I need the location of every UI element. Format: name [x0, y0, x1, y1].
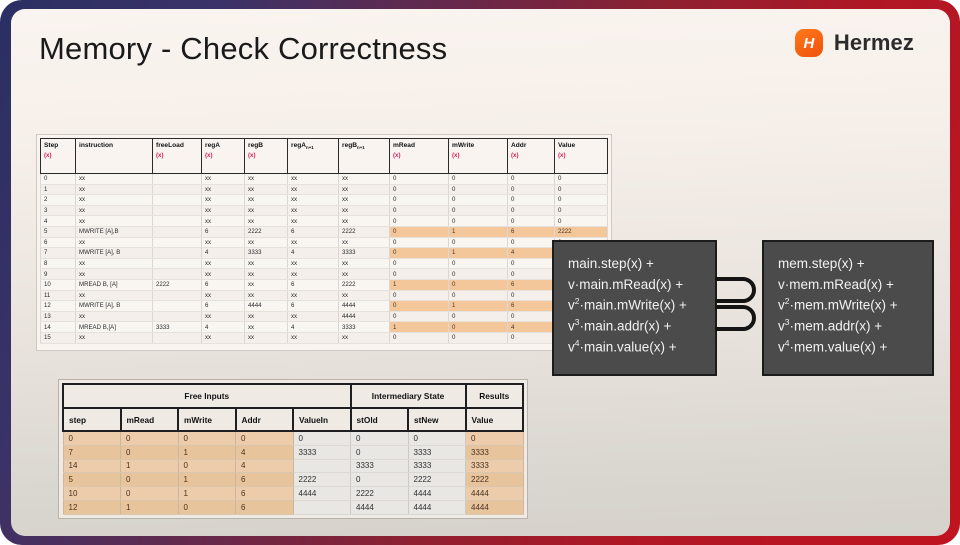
summary-cell-step: 0 — [63, 431, 121, 445]
trace-cell-step: 12 — [41, 301, 76, 312]
summary-cell-stNew: 3333 — [408, 459, 466, 473]
trace-cell-regBn: xx — [339, 332, 390, 343]
trace-cell-step: 14 — [41, 322, 76, 333]
trace-cell-regAn: xx — [288, 332, 339, 343]
trace-cell-step: 6 — [41, 237, 76, 248]
formula-line: v3·main.addr(x) + — [568, 316, 701, 337]
formula-line: v4·mem.value(x) + — [778, 337, 918, 358]
trace-cell-mWrite: 0 — [449, 332, 508, 343]
trace-cell-freeLoad — [153, 258, 202, 269]
summary-header-mread: mRead — [121, 408, 179, 431]
trace-cell-freeLoad: 2222 — [153, 279, 202, 290]
trace-cell-value: 0 — [555, 195, 608, 206]
trace-cell-regBn: xx — [339, 216, 390, 227]
trace-cell-mWrite: 0 — [449, 311, 508, 322]
trace-cell-regB: xx — [245, 195, 288, 206]
memory-summary-table-container: Free InputsIntermediary StateResults ste… — [58, 379, 528, 519]
trace-cell-mRead: 0 — [390, 301, 449, 312]
trace-cell-regBn: 3333 — [339, 322, 390, 333]
trace-cell-regAn: xx — [288, 258, 339, 269]
trace-cell-regBn: 4444 — [339, 311, 390, 322]
trace-cell-mRead: 0 — [390, 248, 449, 259]
table-row: 14104333333333333 — [63, 459, 523, 473]
summary-cell-step: 12 — [63, 500, 121, 514]
trace-cell-instruction: xx — [76, 237, 153, 248]
trace-table-head: Step(x)instructionfreeLoad(x)regA(x)regB… — [41, 139, 608, 174]
trace-cell-mRead: 0 — [390, 226, 449, 237]
trace-cell-regA: xx — [202, 311, 245, 322]
table-row: 3xxxxxxxxxx0000 — [41, 205, 608, 216]
summary-cell-addr: 0 — [236, 431, 294, 445]
trace-cell-regBn: xx — [339, 195, 390, 206]
summary-cell-step: 14 — [63, 459, 121, 473]
table-row: 00000000 — [63, 431, 523, 445]
table-row: 50162222022222222 — [63, 473, 523, 487]
summary-cell-mRead: 0 — [121, 487, 179, 501]
summary-cell-valueIn: 2222 — [293, 473, 351, 487]
trace-cell-instruction: xx — [76, 258, 153, 269]
trace-cell-mWrite: 1 — [449, 226, 508, 237]
trace-cell-step: 13 — [41, 311, 76, 322]
trace-cell-value: 0 — [555, 184, 608, 195]
trace-header-mread: mRead(x) — [390, 139, 449, 174]
table-row: 1xxxxxxxxxx0000 — [41, 184, 608, 195]
formula-line: v3·mem.addr(x) + — [778, 316, 918, 337]
trace-cell-mRead: 0 — [390, 195, 449, 206]
table-row: 9xxxxxxxxxx0000 — [41, 269, 608, 280]
trace-cell-addr: 0 — [508, 184, 555, 195]
trace-cell-step: 3 — [41, 205, 76, 216]
trace-cell-regB: xx — [245, 322, 288, 333]
summary-cell-mWrite: 1 — [178, 487, 236, 501]
trace-cell-regBn: 4444 — [339, 301, 390, 312]
trace-cell-freeLoad — [153, 184, 202, 195]
trace-cell-freeLoad: 3333 — [153, 322, 202, 333]
trace-cell-freeLoad — [153, 226, 202, 237]
summary-cell-value: 4444 — [466, 500, 524, 514]
trace-cell-instruction: MREAD B, [A] — [76, 279, 153, 290]
trace-cell-step: 15 — [41, 332, 76, 343]
table-row: 2xxxxxxxxxx0000 — [41, 195, 608, 206]
summary-cell-stNew: 3333 — [408, 445, 466, 459]
summary-cell-mRead: 0 — [121, 445, 179, 459]
trace-cell-addr: 6 — [508, 226, 555, 237]
trace-cell-regAn: 4 — [288, 248, 339, 259]
trace-cell-step: 11 — [41, 290, 76, 301]
trace-cell-regBn: xx — [339, 258, 390, 269]
trace-header-regb: regBn+1 — [339, 139, 390, 174]
trace-cell-instruction: MWRITE [A],B — [76, 226, 153, 237]
trace-cell-step: 5 — [41, 226, 76, 237]
table-row: 12106444444444444 — [63, 500, 523, 514]
summary-cell-mRead: 1 — [121, 500, 179, 514]
slide-body: Memory - Check Correctness H Hermez Step… — [11, 9, 950, 536]
trace-cell-step: 8 — [41, 258, 76, 269]
summary-cell-stOld: 2222 — [351, 487, 409, 501]
trace-cell-regA: xx — [202, 258, 245, 269]
summary-table-body: 0000000070143333033333333141043333333333… — [63, 431, 523, 514]
trace-cell-instruction: xx — [76, 290, 153, 301]
trace-cell-freeLoad — [153, 332, 202, 343]
trace-cell-regA: xx — [202, 205, 245, 216]
trace-cell-freeLoad — [153, 290, 202, 301]
trace-cell-addr: 0 — [508, 332, 555, 343]
summary-cell-step: 7 — [63, 445, 121, 459]
summary-cell-value: 3333 — [466, 445, 524, 459]
trace-cell-mRead: 1 — [390, 322, 449, 333]
formula-line: v2·main.mWrite(x) + — [568, 295, 701, 316]
trace-cell-mRead: 0 — [390, 258, 449, 269]
summary-cell-mWrite: 0 — [178, 459, 236, 473]
trace-cell-regA: 6 — [202, 301, 245, 312]
summary-cell-value: 4444 — [466, 487, 524, 501]
summary-cell-stOld: 0 — [351, 473, 409, 487]
trace-cell-regBn: 2222 — [339, 226, 390, 237]
trace-cell-regB: xx — [245, 174, 288, 185]
trace-cell-addr: 0 — [508, 195, 555, 206]
trace-cell-regA: xx — [202, 195, 245, 206]
table-row: 6xxxxxxxxxx0000 — [41, 237, 608, 248]
trace-cell-regBn: xx — [339, 184, 390, 195]
summary-cell-valueIn: 3333 — [293, 445, 351, 459]
summary-cell-mRead: 0 — [121, 473, 179, 487]
trace-header-freeload: freeLoad(x) — [153, 139, 202, 174]
summary-cell-stNew: 2222 — [408, 473, 466, 487]
trace-header-regb: regB(x) — [245, 139, 288, 174]
trace-cell-regAn: xx — [288, 184, 339, 195]
trace-cell-regB: xx — [245, 205, 288, 216]
trace-cell-regB: xx — [245, 311, 288, 322]
summary-cell-stNew: 4444 — [408, 500, 466, 514]
trace-cell-mWrite: 0 — [449, 174, 508, 185]
trace-cell-regAn: xx — [288, 205, 339, 216]
trace-cell-addr: 0 — [508, 237, 555, 248]
trace-cell-value: 2222 — [555, 226, 608, 237]
trace-cell-mWrite: 0 — [449, 279, 508, 290]
trace-cell-step: 10 — [41, 279, 76, 290]
trace-cell-regB: 2222 — [245, 226, 288, 237]
trace-cell-mRead: 1 — [390, 279, 449, 290]
trace-cell-freeLoad — [153, 174, 202, 185]
table-row: 70143333033333333 — [63, 445, 523, 459]
trace-cell-regBn: xx — [339, 290, 390, 301]
trace-cell-step: 4 — [41, 216, 76, 227]
page-title: Memory - Check Correctness — [39, 31, 447, 67]
summary-cell-valueIn: 4444 — [293, 487, 351, 501]
trace-header-row: Step(x)instructionfreeLoad(x)regA(x)regB… — [41, 139, 608, 174]
table-row: 12MWRITE [A], B64444644440164444 — [41, 301, 608, 312]
summary-group-row: Free InputsIntermediary StateResults — [63, 384, 523, 408]
summary-cell-value: 2222 — [466, 473, 524, 487]
table-row: 4xxxxxxxxxx0000 — [41, 216, 608, 227]
trace-cell-mRead: 0 — [390, 205, 449, 216]
summary-cell-stOld: 0 — [351, 431, 409, 445]
formula-line: v4·main.value(x) + — [568, 337, 701, 358]
table-row: 5MWRITE [A],B62222622220162222 — [41, 226, 608, 237]
trace-cell-regA: xx — [202, 290, 245, 301]
trace-cell-regB: xx — [245, 184, 288, 195]
trace-header-rega: regA(x) — [202, 139, 245, 174]
trace-cell-mWrite: 0 — [449, 290, 508, 301]
trace-cell-mWrite: 0 — [449, 237, 508, 248]
summary-cell-stOld: 3333 — [351, 459, 409, 473]
trace-cell-addr: 4 — [508, 322, 555, 333]
summary-cell-stNew: 0 — [408, 431, 466, 445]
trace-cell-regBn: xx — [339, 205, 390, 216]
trace-header-instruction: instruction — [76, 139, 153, 174]
table-row: 7MWRITE [A], B43333433330143333 — [41, 248, 608, 259]
bracket-connector-icon — [713, 267, 765, 339]
summary-header-mwrite: mWrite — [178, 408, 236, 431]
trace-cell-addr: 0 — [508, 174, 555, 185]
table-row: 14MREAD B,[A]33334xx433331043333 — [41, 322, 608, 333]
formula-line: v·main.mRead(x) + — [568, 275, 701, 296]
trace-header-rega: regAn+1 — [288, 139, 339, 174]
trace-cell-mWrite: 0 — [449, 195, 508, 206]
trace-header-value: Value(x) — [555, 139, 608, 174]
summary-group-free-inputs: Free Inputs — [63, 384, 351, 408]
summary-cell-stNew: 4444 — [408, 487, 466, 501]
trace-table-body: 0xxxxxxxxxx00001xxxxxxxxxx00002xxxxxxxxx… — [41, 174, 608, 344]
trace-cell-mWrite: 0 — [449, 322, 508, 333]
summary-cell-mWrite: 0 — [178, 500, 236, 514]
memory-summary-table: Free InputsIntermediary StateResults ste… — [62, 383, 524, 515]
trace-cell-regBn: xx — [339, 269, 390, 280]
trace-cell-regB: xx — [245, 279, 288, 290]
trace-cell-instruction: MWRITE [A], B — [76, 301, 153, 312]
summary-header-row: stepmReadmWriteAddrValueInstOldstNewValu… — [63, 408, 523, 431]
trace-cell-regA: 4 — [202, 322, 245, 333]
trace-cell-addr: 0 — [508, 269, 555, 280]
formula-line: main.step(x) + — [568, 254, 701, 275]
summary-header-stold: stOld — [351, 408, 409, 431]
trace-cell-regBn: 3333 — [339, 248, 390, 259]
trace-cell-regB: xx — [245, 216, 288, 227]
trace-cell-regA: 4 — [202, 248, 245, 259]
trace-cell-instruction: MREAD B,[A] — [76, 322, 153, 333]
summary-cell-value: 0 — [466, 431, 524, 445]
trace-cell-regBn: xx — [339, 174, 390, 185]
main-formula-box: main.step(x) +v·main.mRead(x) +v2·main.m… — [552, 240, 717, 376]
trace-cell-instruction: xx — [76, 205, 153, 216]
table-row: 100164444222244444444 — [63, 487, 523, 501]
execution-trace-table: Step(x)instructionfreeLoad(x)regA(x)regB… — [40, 138, 608, 344]
brand-name: Hermez — [834, 30, 914, 56]
table-row: 10MREAD B, [A]22226xx622221062222 — [41, 279, 608, 290]
trace-cell-mRead: 0 — [390, 174, 449, 185]
trace-cell-addr: 6 — [508, 301, 555, 312]
summary-header-stnew: stNew — [408, 408, 466, 431]
formula-line: mem.step(x) + — [778, 254, 918, 275]
trace-cell-regB: xx — [245, 237, 288, 248]
trace-cell-instruction: xx — [76, 184, 153, 195]
trace-cell-regA: 6 — [202, 279, 245, 290]
trace-cell-addr: 0 — [508, 290, 555, 301]
brand-logo: H Hermez — [795, 29, 914, 57]
trace-cell-regAn: xx — [288, 269, 339, 280]
summary-cell-valueIn — [293, 459, 351, 473]
trace-cell-regA: xx — [202, 174, 245, 185]
trace-cell-instruction: MWRITE [A], B — [76, 248, 153, 259]
trace-cell-regAn: 6 — [288, 301, 339, 312]
trace-cell-regAn: 6 — [288, 279, 339, 290]
trace-cell-regB: 3333 — [245, 248, 288, 259]
trace-cell-regAn: 4 — [288, 322, 339, 333]
summary-cell-mRead: 0 — [121, 431, 179, 445]
trace-cell-mWrite: 0 — [449, 184, 508, 195]
trace-cell-mRead: 0 — [390, 269, 449, 280]
table-row: 15xxxxxxxxxx0000 — [41, 332, 608, 343]
trace-cell-regA: xx — [202, 216, 245, 227]
trace-cell-value: 0 — [555, 205, 608, 216]
summary-header-valuein: ValueIn — [293, 408, 351, 431]
trace-cell-regA: xx — [202, 269, 245, 280]
trace-cell-mWrite: 0 — [449, 216, 508, 227]
summary-cell-step: 10 — [63, 487, 121, 501]
trace-cell-mRead: 0 — [390, 216, 449, 227]
trace-cell-freeLoad — [153, 237, 202, 248]
summary-cell-mRead: 1 — [121, 459, 179, 473]
trace-cell-instruction: xx — [76, 216, 153, 227]
hermez-logo-icon: H — [795, 29, 823, 57]
trace-cell-regB: xx — [245, 290, 288, 301]
summary-header-addr: Addr — [236, 408, 294, 431]
trace-cell-regA: xx — [202, 184, 245, 195]
trace-cell-step: 7 — [41, 248, 76, 259]
trace-cell-regA: xx — [202, 237, 245, 248]
formula-line: v2·mem.mWrite(x) + — [778, 295, 918, 316]
trace-cell-mWrite: 0 — [449, 269, 508, 280]
trace-cell-mWrite: 0 — [449, 205, 508, 216]
summary-header-value: Value — [466, 408, 524, 431]
trace-cell-regB: xx — [245, 332, 288, 343]
summary-header-step: step — [63, 408, 121, 431]
summary-cell-addr: 6 — [236, 473, 294, 487]
trace-cell-mRead: 0 — [390, 237, 449, 248]
trace-cell-addr: 6 — [508, 279, 555, 290]
summary-cell-stOld: 0 — [351, 445, 409, 459]
summary-cell-addr: 4 — [236, 445, 294, 459]
trace-cell-regAn: xx — [288, 174, 339, 185]
trace-header-step: Step(x) — [41, 139, 76, 174]
trace-cell-mWrite: 1 — [449, 301, 508, 312]
summary-cell-step: 5 — [63, 473, 121, 487]
trace-cell-addr: 0 — [508, 258, 555, 269]
trace-cell-step: 2 — [41, 195, 76, 206]
table-row: 13xxxxxxxx44440000 — [41, 311, 608, 322]
trace-cell-regAn: xx — [288, 237, 339, 248]
trace-cell-regAn: xx — [288, 311, 339, 322]
trace-cell-regAn: xx — [288, 290, 339, 301]
trace-header-mwrite: mWrite(x) — [449, 139, 508, 174]
trace-cell-addr: 0 — [508, 216, 555, 227]
summary-cell-stOld: 4444 — [351, 500, 409, 514]
trace-cell-regBn: xx — [339, 237, 390, 248]
trace-cell-addr: 4 — [508, 248, 555, 259]
trace-cell-regAn: 6 — [288, 226, 339, 237]
trace-cell-mRead: 0 — [390, 290, 449, 301]
trace-cell-addr: 0 — [508, 205, 555, 216]
trace-cell-regB: xx — [245, 269, 288, 280]
trace-cell-instruction: xx — [76, 332, 153, 343]
trace-header-addr: Addr(x) — [508, 139, 555, 174]
summary-cell-addr: 6 — [236, 500, 294, 514]
trace-cell-mRead: 0 — [390, 332, 449, 343]
trace-cell-regAn: xx — [288, 195, 339, 206]
trace-cell-regBn: 2222 — [339, 279, 390, 290]
trace-cell-instruction: xx — [76, 311, 153, 322]
trace-cell-instruction: xx — [76, 195, 153, 206]
trace-cell-value: 0 — [555, 216, 608, 227]
execution-trace-table-container: Step(x)instructionfreeLoad(x)regA(x)regB… — [36, 134, 612, 351]
trace-cell-mRead: 0 — [390, 184, 449, 195]
summary-cell-mWrite: 1 — [178, 445, 236, 459]
trace-cell-mRead: 0 — [390, 311, 449, 322]
summary-cell-valueIn: 0 — [293, 431, 351, 445]
table-row: 8xxxxxxxxxx0000 — [41, 258, 608, 269]
trace-cell-freeLoad — [153, 311, 202, 322]
trace-cell-regAn: xx — [288, 216, 339, 227]
table-row: 0xxxxxxxxxx0000 — [41, 174, 608, 185]
trace-cell-freeLoad — [153, 301, 202, 312]
formula-line: v·mem.mRead(x) + — [778, 275, 918, 296]
trace-cell-step: 1 — [41, 184, 76, 195]
summary-cell-addr: 4 — [236, 459, 294, 473]
trace-cell-regA: xx — [202, 332, 245, 343]
trace-cell-freeLoad — [153, 248, 202, 259]
summary-group-intermediary-state: Intermediary State — [351, 384, 466, 408]
summary-cell-mWrite: 0 — [178, 431, 236, 445]
trace-cell-step: 0 — [41, 174, 76, 185]
trace-cell-freeLoad — [153, 195, 202, 206]
trace-cell-mWrite: 0 — [449, 258, 508, 269]
trace-cell-regB: 4444 — [245, 301, 288, 312]
summary-cell-value: 3333 — [466, 459, 524, 473]
trace-cell-step: 9 — [41, 269, 76, 280]
slide-frame: Memory - Check Correctness H Hermez Step… — [0, 0, 960, 545]
trace-cell-freeLoad — [153, 269, 202, 280]
summary-cell-valueIn — [293, 500, 351, 514]
trace-cell-instruction: xx — [76, 269, 153, 280]
trace-cell-regA: 6 — [202, 226, 245, 237]
trace-cell-instruction: xx — [76, 174, 153, 185]
summary-cell-mWrite: 1 — [178, 473, 236, 487]
mem-formula-box: mem.step(x) +v·mem.mRead(x) +v2·mem.mWri… — [762, 240, 934, 376]
trace-cell-value: 0 — [555, 174, 608, 185]
summary-table-head: Free InputsIntermediary StateResults ste… — [63, 384, 523, 431]
summary-cell-addr: 6 — [236, 487, 294, 501]
table-row: 11xxxxxxxxxx0000 — [41, 290, 608, 301]
trace-cell-regB: xx — [245, 258, 288, 269]
trace-cell-freeLoad — [153, 205, 202, 216]
summary-group-results: Results — [466, 384, 524, 408]
trace-cell-freeLoad — [153, 216, 202, 227]
trace-cell-mWrite: 1 — [449, 248, 508, 259]
trace-cell-addr: 0 — [508, 311, 555, 322]
